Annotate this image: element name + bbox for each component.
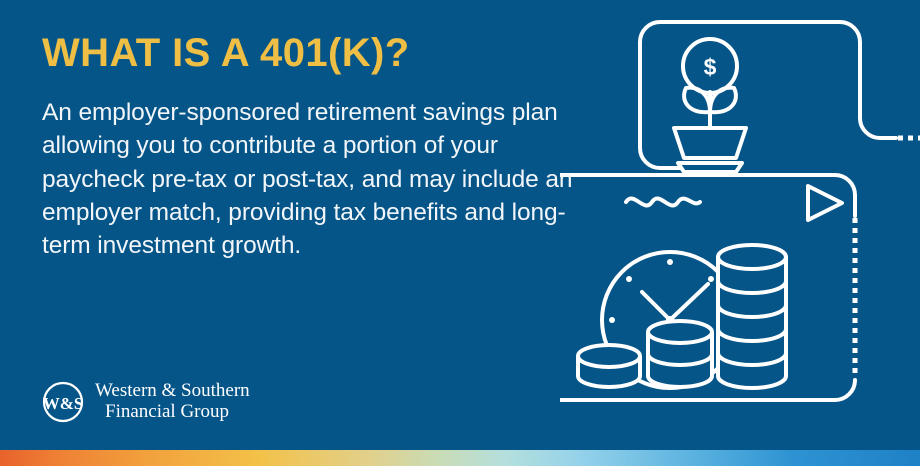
logo-wordmark: Western & Southern Financial Group (95, 381, 250, 422)
clock-tick-9 (609, 317, 615, 323)
coin-top-3 (718, 245, 786, 269)
coin-stack-short (578, 345, 640, 387)
clock-and-coin-stacks-icon (578, 245, 786, 388)
illustration-group: $ (560, 0, 920, 450)
body-paragraph: An employer-sponsored retirement savings… (42, 96, 582, 263)
play-triangle-icon (808, 186, 842, 220)
brand-gradient-strip (0, 450, 920, 466)
coin-body-3 (718, 257, 786, 388)
plant-pot-saucer (678, 163, 742, 172)
ws-monogram-text: W&S (43, 394, 84, 413)
page-title: WHAT IS A 401(K)? (42, 32, 602, 74)
clock-tick-10 (626, 276, 632, 282)
plant-pot (674, 128, 746, 158)
clock-tick-12 (667, 259, 673, 265)
rounded-rectangle-frame (640, 22, 860, 168)
coin-stack-tall (718, 245, 786, 388)
logo-line-1: Western & Southern (95, 381, 250, 402)
clock-hand-hour (642, 292, 670, 320)
logo-line-2: Financial Group (95, 402, 250, 423)
coin-top-2 (648, 321, 712, 343)
ws-monogram-icon: W&S (40, 381, 86, 423)
frame-exit-curve (860, 118, 896, 138)
money-plant-icon: $ (674, 39, 746, 172)
solid-connector-path (560, 175, 855, 216)
infographic-canvas: $ (0, 0, 920, 466)
coin-top-1 (578, 345, 640, 367)
coin-stack-medium (648, 321, 712, 387)
brand-logo[interactable]: W&S Western & Southern Financial Group (40, 381, 250, 423)
clock-hand-minute (670, 284, 708, 320)
dollar-symbol: $ (704, 54, 717, 80)
clock-tick-2 (708, 276, 714, 282)
squiggle-line-icon (626, 199, 700, 206)
